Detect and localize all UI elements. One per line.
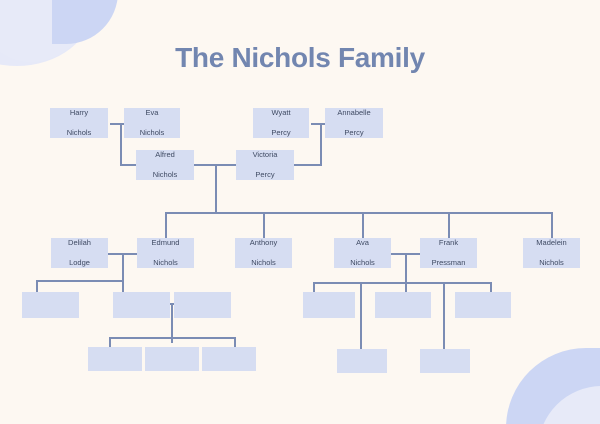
connector-drop-edmund (165, 212, 167, 238)
person-first-name: Madelein (534, 238, 568, 248)
person-last-name: Nichols (248, 258, 280, 268)
person-last-name: Nichols (65, 128, 94, 138)
person-first-name: Eva (138, 108, 167, 118)
person-node-blank-g5-3[interactable] (202, 347, 256, 371)
connector-sibling-bus-gen3 (165, 212, 553, 214)
person-node-blank-g5-5[interactable] (420, 349, 470, 373)
connector-drop-ava (362, 212, 364, 238)
person-last-name: Nichols (150, 258, 182, 268)
person-last-name: Nichols (348, 258, 377, 268)
person-last-name: Percy (269, 128, 292, 138)
person-first-name: Delilah (66, 238, 93, 248)
person-node-blank-g4-6[interactable] (455, 292, 511, 318)
person-node-blank-g5-2[interactable] (145, 347, 199, 371)
connector-ava-frank (391, 253, 423, 255)
person-node-alfred-nichols[interactable]: AlfredNichols (136, 150, 194, 180)
person-first-name: Harry (65, 108, 94, 118)
person-node-victoria-percy[interactable]: VictoriaPercy (236, 150, 294, 180)
connector-drop-madelein (551, 212, 553, 238)
connector-sibling-bus-gen5-left (109, 337, 235, 339)
connector-delilah-edmund-drop (122, 253, 124, 280)
person-node-blank-g4-1[interactable] (22, 292, 79, 318)
person-node-blank-g5-1[interactable] (88, 347, 142, 371)
person-last-name: Nichols (151, 170, 180, 180)
decorative-blob-bottom-right-petal (506, 348, 600, 424)
connector-harry-eva-drop (120, 123, 122, 165)
connector-wyatt-annabelle-drop (320, 123, 322, 165)
person-first-name: Annabelle (335, 108, 372, 118)
connector-to-victoria (294, 164, 322, 166)
connector-drop-frank (448, 212, 450, 238)
person-node-frank-pressman[interactable]: FrankPressman (420, 238, 477, 268)
person-node-blank-g4-3[interactable] (174, 292, 231, 318)
person-first-name: Victoria (251, 150, 280, 160)
person-node-annabelle-percy[interactable]: AnnabellePercy (325, 108, 383, 138)
person-last-name: Lodge (66, 258, 93, 268)
person-node-eva-nichols[interactable]: EvaNichols (124, 108, 180, 138)
person-first-name: Ava (348, 238, 377, 248)
person-node-blank-g5-4[interactable] (337, 349, 387, 373)
person-first-name: Frank (430, 238, 468, 248)
person-last-name: Percy (335, 128, 372, 138)
connector-ava-frank-drop (405, 253, 407, 282)
person-node-blank-g4-4[interactable] (303, 292, 355, 318)
person-node-ava-nichols[interactable]: AvaNichols (334, 238, 391, 268)
family-tree-canvas: The Nichols Family HarryNichols EvaNicho… (0, 0, 600, 424)
person-first-name: Wyatt (269, 108, 292, 118)
person-node-blank-g4-5[interactable] (375, 292, 431, 318)
person-node-madelein-nichols[interactable]: MadeleinNichols (523, 238, 580, 268)
connector-to-alfred (120, 164, 136, 166)
connector-sibling-bus-gen4-right (313, 282, 491, 284)
person-last-name: Pressman (430, 258, 468, 268)
person-node-wyatt-percy[interactable]: WyattPercy (253, 108, 309, 138)
person-first-name: Anthony (248, 238, 280, 248)
person-node-anthony-nichols[interactable]: AnthonyNichols (235, 238, 292, 268)
connector-sibling-bus-gen4-left (36, 280, 123, 282)
connector-drop-gen5-right-2 (443, 282, 445, 355)
person-node-edmund-nichols[interactable]: EdmundNichols (137, 238, 194, 268)
person-first-name: Edmund (150, 238, 182, 248)
connector-drop-gen5-right-1 (360, 282, 362, 355)
person-node-harry-nichols[interactable]: HarryNichols (50, 108, 108, 138)
decorative-blob-bottom-right-pale (538, 386, 600, 424)
connector-drop-anthony (263, 212, 265, 238)
connector-main-trunk (215, 164, 217, 213)
person-node-delilah-lodge[interactable]: DelilahLodge (51, 238, 108, 268)
person-last-name: Nichols (138, 128, 167, 138)
person-last-name: Percy (251, 170, 280, 180)
person-last-name: Nichols (534, 258, 568, 268)
person-first-name: Alfred (151, 150, 180, 160)
decorative-blob-top-left-petal (52, 0, 118, 44)
person-node-blank-g4-2[interactable] (113, 292, 170, 318)
page-title: The Nichols Family (0, 42, 600, 74)
